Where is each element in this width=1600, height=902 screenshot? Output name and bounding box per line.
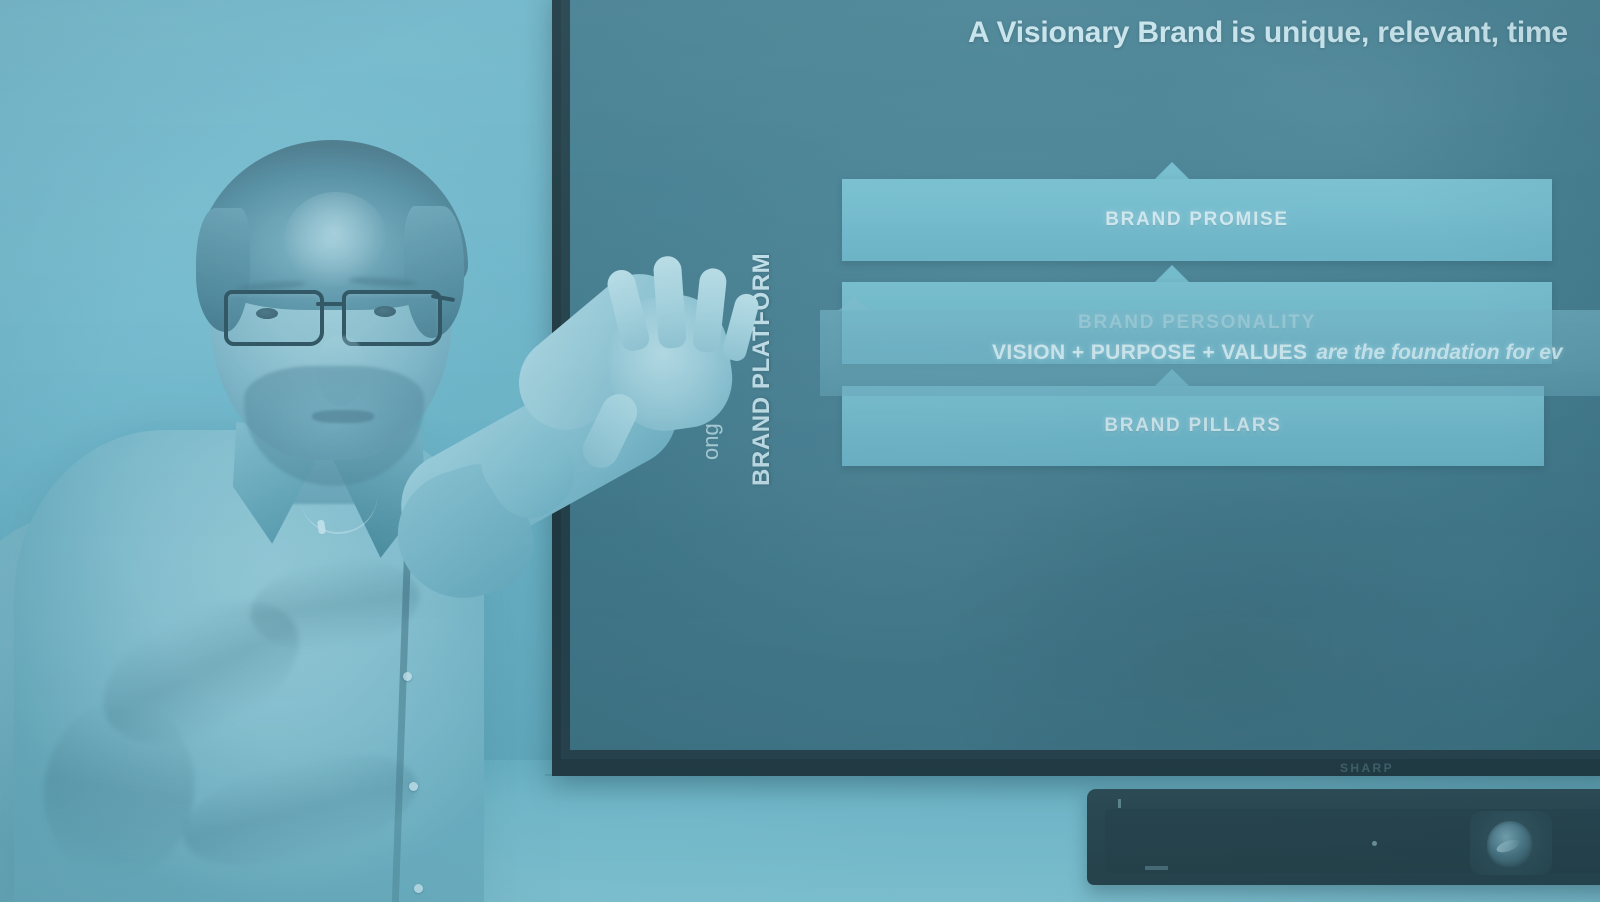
status-led-icon: [1372, 841, 1377, 846]
eyeglass-lens-left: [224, 290, 324, 346]
soundbar-logo: [1145, 866, 1168, 870]
shirt-button: [414, 884, 423, 893]
chevron-up-icon: [1155, 265, 1189, 282]
slide-headline: A Visionary Brand is unique, relevant, t…: [968, 16, 1568, 50]
eyeglass-bridge: [316, 302, 344, 306]
eyeglass-lens-right: [342, 290, 442, 346]
platform-box-label: BRAND PROMISE: [1105, 209, 1289, 231]
soundbar-camera-unit: [1087, 789, 1600, 885]
shirt-button: [409, 782, 418, 791]
screenshot-stage: A Visionary Brand is unique, relevant, t…: [0, 0, 1600, 902]
shirt-button: [403, 672, 412, 681]
mouth: [312, 410, 374, 423]
foundation-bar: VISION + PURPOSE + VALUESare the foundat…: [820, 310, 1600, 396]
foundation-strong-text: VISION + PURPOSE + VALUES: [992, 341, 1307, 364]
forehead-highlight: [284, 192, 388, 288]
platform-box-brand-pillars: BRAND PILLARS: [842, 386, 1544, 466]
chevron-up-icon: [1155, 162, 1189, 179]
platform-box-brand-promise: BRAND PROMISE: [842, 179, 1552, 261]
foundation-italic-text: are the foundation for ev: [1316, 341, 1562, 364]
slide-vertical-label: BRAND PLATFORM: [748, 253, 776, 486]
conference-camera: [1470, 811, 1552, 875]
soundbar-indicator-icon: [1118, 799, 1121, 808]
display-brand-logo: SHARP: [1340, 761, 1394, 775]
presenter: [0, 0, 560, 902]
platform-box-label: BRAND PILLARS: [1104, 415, 1281, 437]
foundation-text: VISION + PURPOSE + VALUESare the foundat…: [992, 341, 1563, 365]
chevron-up-icon: [838, 296, 870, 311]
